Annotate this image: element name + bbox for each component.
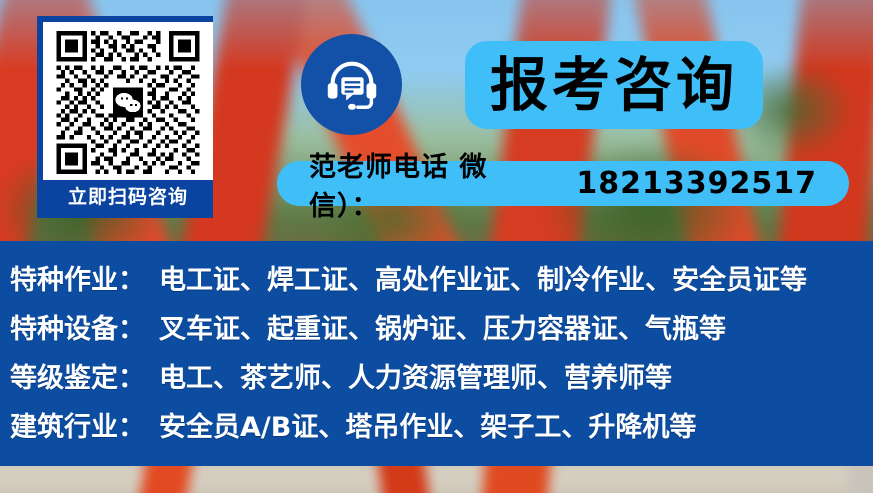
- category-items: 电工证、焊工证、高处作业证、制冷作业、安全员证等: [159, 265, 807, 296]
- qr-label: 立即扫码咨询: [40, 177, 216, 213]
- promo-poster: 立即扫码咨询 报考咨询 范老师电话 微信）： 18213392517 特种作业：…: [0, 0, 873, 493]
- category-panel: 特种作业：电工证、焊工证、高处作业证、制冷作业、安全员证等 特种设备：叉车证、起…: [0, 241, 873, 466]
- contact-label: 范老师电话 微信）：: [309, 145, 524, 223]
- footer-photo-blurred: [0, 466, 873, 493]
- category-row: 建筑行业：安全员A/B证、塔吊作业、架子工、升降机等: [10, 405, 696, 444]
- page-title: 报考咨询: [490, 56, 738, 114]
- category-row: 特种作业：电工证、焊工证、高处作业证、制冷作业、安全员证等: [10, 258, 807, 297]
- category-row: 特种设备：叉车证、起重证、锅炉证、压力容器证、气瓶等: [10, 307, 726, 346]
- headset-chat-icon: [321, 54, 383, 116]
- headset-badge: [301, 34, 402, 135]
- contact-phone-number: 18213392517: [576, 166, 817, 201]
- qr-code-card[interactable]: 立即扫码咨询: [37, 16, 213, 218]
- category-items: 叉车证、起重证、锅炉证、压力容器证、气瓶等: [159, 314, 726, 345]
- contact-pill[interactable]: 范老师电话 微信）： 18213392517: [277, 161, 849, 206]
- category-name: 特种作业：: [10, 265, 145, 296]
- category-name: 特种设备：: [10, 314, 145, 345]
- title-pill: 报考咨询: [465, 41, 763, 129]
- qr-code-surface: [43, 22, 213, 180]
- category-row: 等级鉴定：电工、茶艺师、人力资源管理师、营养师等: [10, 356, 672, 395]
- category-name: 等级鉴定：: [10, 363, 145, 394]
- category-items: 电工、茶艺师、人力资源管理师、营养师等: [159, 363, 672, 394]
- category-items: 安全员A/B证、塔吊作业、架子工、升降机等: [159, 412, 696, 443]
- category-name: 建筑行业：: [10, 412, 145, 443]
- footer-photo-strip: [0, 466, 873, 493]
- wechat-qr-code-icon: [52, 31, 204, 174]
